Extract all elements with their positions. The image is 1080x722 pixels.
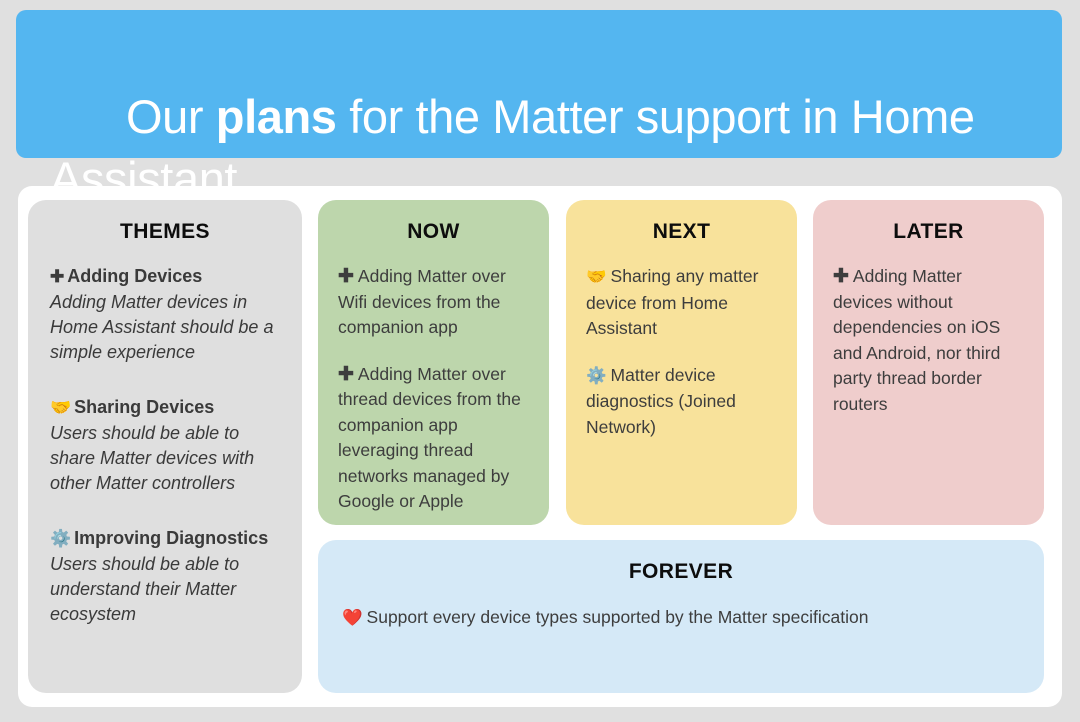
page-title-bold: plans <box>216 90 337 143</box>
themes-column: THEMES ✚Adding Devices Adding Matter dev… <box>28 200 302 693</box>
bullet-item: ❤️Support every device types supported b… <box>342 604 1020 631</box>
bullet-item: ✚Adding Matter over thread devices from … <box>338 362 529 515</box>
bullet-text: Adding Matter devices without dependenci… <box>833 266 1000 414</box>
gear-icon: ⚙️ <box>50 529 71 548</box>
column-later: LATER ✚Adding Matter devices without dep… <box>813 200 1044 525</box>
bullet-text: Support every device types supported by … <box>367 607 869 627</box>
bullet-item: ✚Adding Matter over Wifi devices from th… <box>338 264 529 341</box>
bullet-text: Matter device diagnostics (Joined Networ… <box>586 365 736 437</box>
plus-icon: ✚ <box>50 267 64 286</box>
theme-description: Adding Matter devices in Home Assistant … <box>50 290 280 365</box>
column-next: NEXT 🤝Sharing any matter device from Hom… <box>566 200 797 525</box>
bullet-text: Sharing any matter device from Home Assi… <box>586 266 758 338</box>
bullet-text: Adding Matter over Wifi devices from the… <box>338 266 506 337</box>
theme-item: ✚Adding Devices Adding Matter devices in… <box>50 264 280 365</box>
column-forever: FOREVER ❤️Support every device types sup… <box>318 540 1044 693</box>
bullet-item: ✚Adding Matter devices without dependenc… <box>833 264 1024 417</box>
header-banner: Our plans for the Matter support in Home… <box>16 10 1062 158</box>
plus-icon: ✚ <box>338 266 354 287</box>
theme-title: Adding Devices <box>67 266 202 286</box>
column-later-heading: LATER <box>833 220 1024 244</box>
gear-icon: ⚙️ <box>586 367 607 385</box>
column-next-heading: NEXT <box>586 220 777 244</box>
handshake-icon: 🤝 <box>50 398 71 417</box>
bullet-item: ⚙️Matter device diagnostics (Joined Netw… <box>586 363 777 441</box>
theme-item: 🤝Sharing Devices Users should be able to… <box>50 395 280 496</box>
theme-title-row: ⚙️Improving Diagnostics <box>50 526 280 551</box>
theme-title: Improving Diagnostics <box>74 528 268 548</box>
red-heart-icon: ❤️ <box>342 609 363 627</box>
column-now: NOW ✚Adding Matter over Wifi devices fro… <box>318 200 549 525</box>
theme-description: Users should be able to share Matter dev… <box>50 421 280 496</box>
theme-title-row: 🤝Sharing Devices <box>50 395 280 420</box>
bullet-text: Adding Matter over thread devices from t… <box>338 364 521 512</box>
theme-title: Sharing Devices <box>74 397 214 417</box>
theme-title-row: ✚Adding Devices <box>50 264 280 289</box>
column-forever-heading: FOREVER <box>342 560 1020 584</box>
theme-item: ⚙️Improving Diagnostics Users should be … <box>50 526 280 627</box>
themes-heading: THEMES <box>50 220 280 244</box>
column-now-heading: NOW <box>338 220 529 244</box>
slide-root: Our plans for the Matter support in Home… <box>0 0 1080 722</box>
page-title-part1: Our <box>126 90 216 143</box>
plus-icon: ✚ <box>338 364 354 385</box>
bullet-item: 🤝Sharing any matter device from Home Ass… <box>586 264 777 342</box>
theme-description: Users should be able to understand their… <box>50 552 280 627</box>
handshake-icon: 🤝 <box>586 268 607 286</box>
plus-icon: ✚ <box>833 266 849 287</box>
